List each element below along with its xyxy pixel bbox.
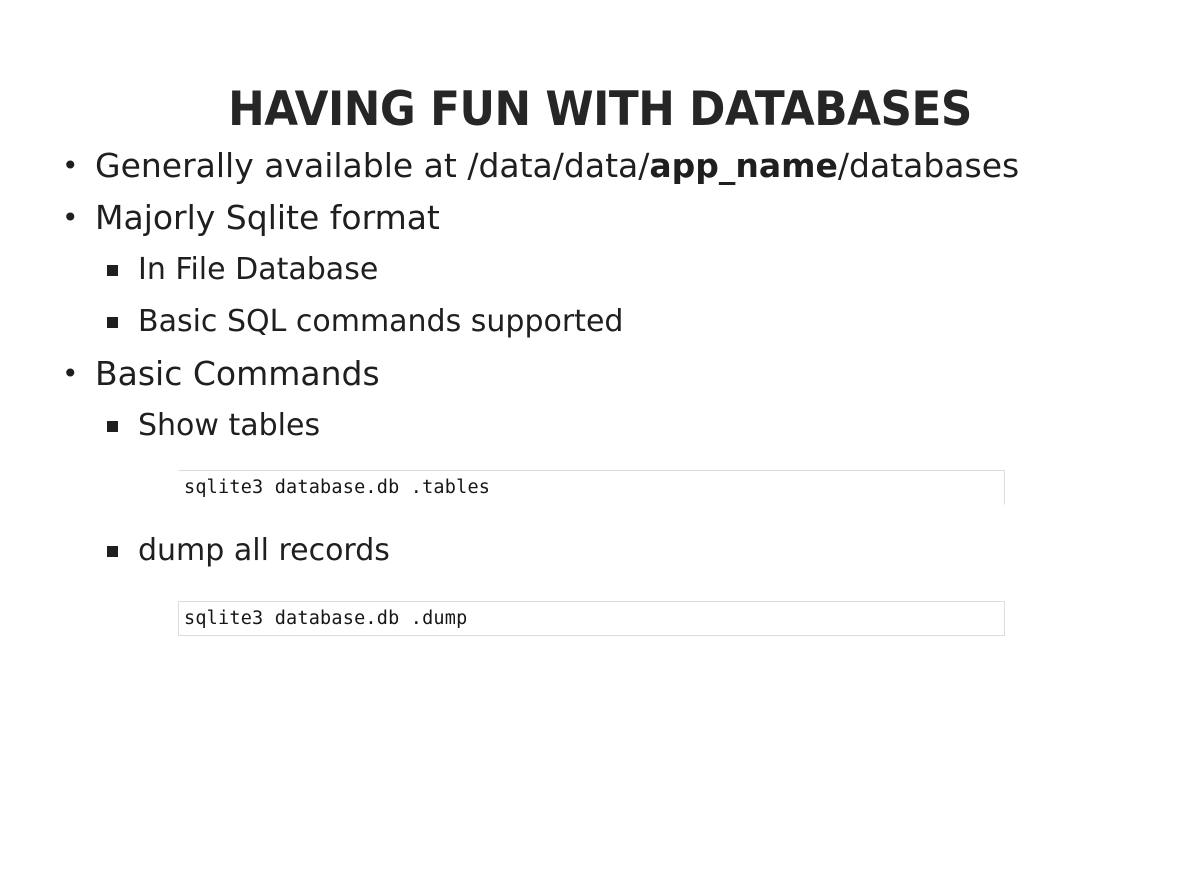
list-item: Basic SQL commands supported	[0, 296, 1200, 348]
list-item-label: Show tables	[138, 408, 320, 443]
list-item-label-suffix: /databases	[838, 146, 1019, 185]
list-item: • Basic Commands	[0, 348, 1200, 400]
list-item-label: In File Database	[138, 252, 378, 287]
list-item-label-emphasis: app_name	[649, 146, 838, 185]
bullet-list: • Generally available at /data/data/app_…	[0, 140, 1200, 636]
list-item-label: Basic SQL commands supported	[138, 304, 623, 339]
list-item-label: Majorly Sqlite format	[95, 198, 440, 237]
list-item: Show tables	[0, 400, 1200, 452]
list-item: • Majorly Sqlite format	[0, 192, 1200, 244]
list-item: In File Database	[0, 244, 1200, 296]
bullet-square-icon	[107, 265, 118, 276]
list-item-label: Basic Commands	[95, 354, 380, 393]
bullet-dot-icon: •	[62, 348, 75, 400]
list-item: dump all records	[0, 525, 1200, 577]
bullet-square-icon	[107, 421, 118, 432]
bullet-dot-icon: •	[62, 192, 75, 244]
spacer	[0, 505, 1200, 525]
page-title: HAVING FUN WITH DATABASES	[42, 81, 1158, 139]
code-block-show-tables[interactable]: sqlite3 database.db .tables	[178, 470, 1005, 505]
slide: HAVING FUN WITH DATABASES • Generally av…	[0, 0, 1200, 891]
list-item-label: dump all records	[138, 533, 390, 568]
bullet-dot-icon: •	[62, 140, 75, 192]
list-item: • Generally available at /data/data/app_…	[0, 140, 1200, 192]
bullet-square-icon	[107, 546, 118, 557]
code-block-dump[interactable]: sqlite3 database.db .dump	[178, 601, 1005, 636]
bullet-square-icon	[107, 317, 118, 328]
list-item-label-prefix: Generally available at /data/data/	[95, 146, 649, 185]
